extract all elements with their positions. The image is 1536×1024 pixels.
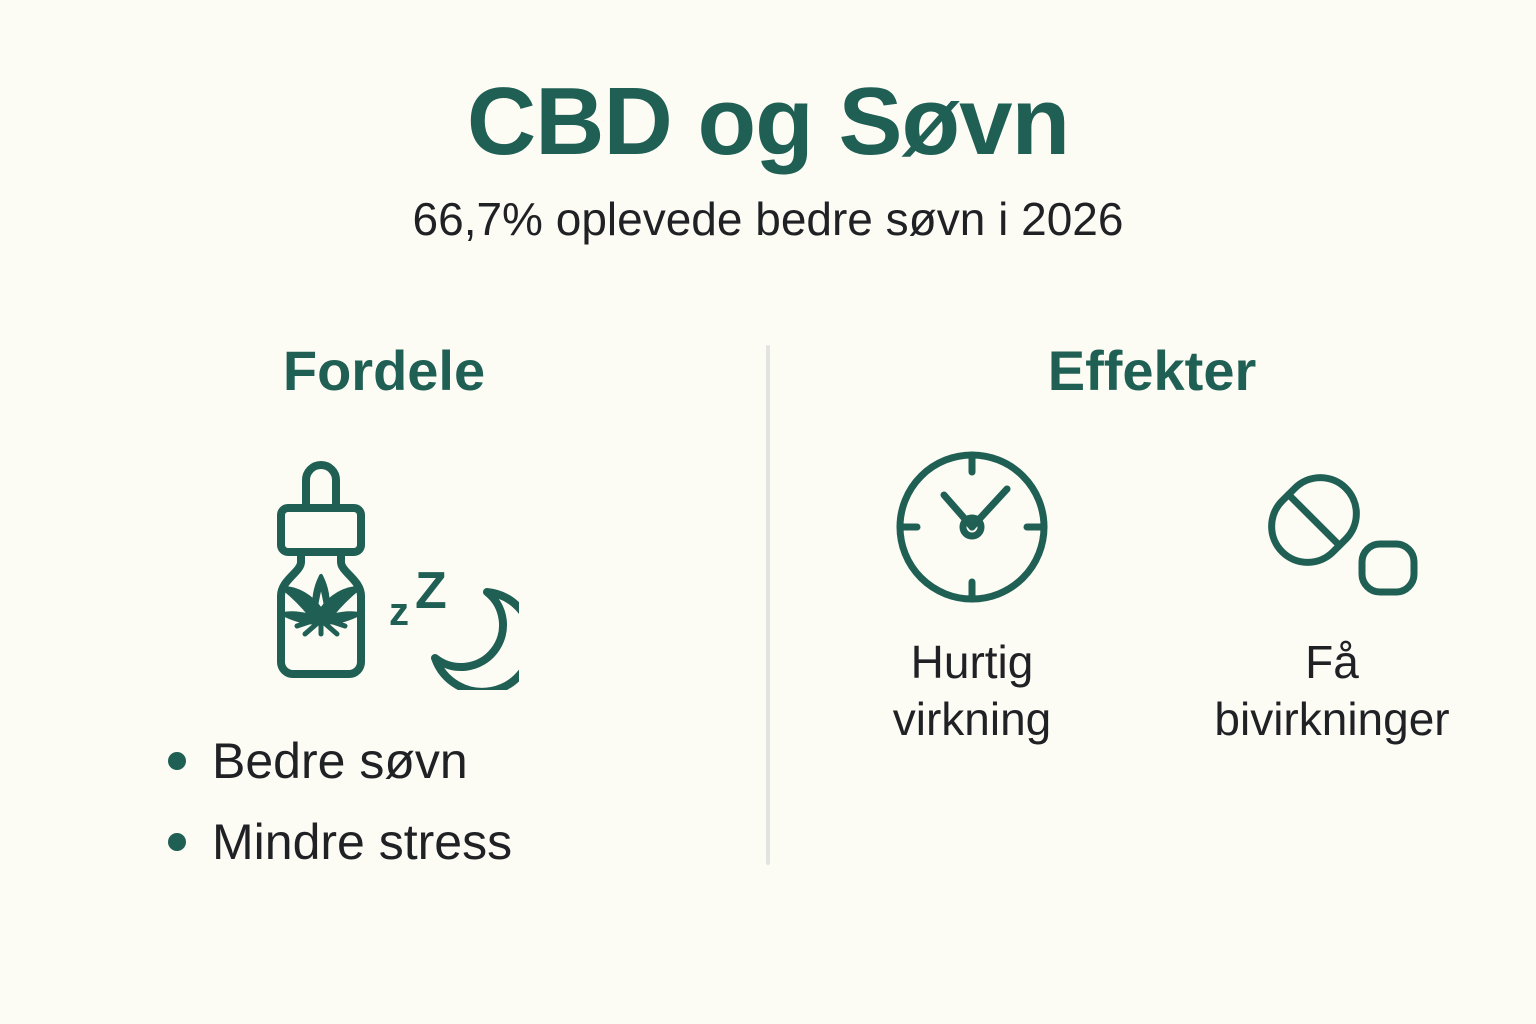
- clock-icon-wrap: [832, 442, 1112, 612]
- cbd-bottle-sleep-icon: z Z: [249, 440, 519, 690]
- large-z-glyph: Z: [415, 562, 447, 620]
- bullet-dot-icon: [168, 752, 186, 770]
- column-effekter: Effekter: [768, 330, 1536, 890]
- column-heading-effekter: Effekter: [768, 330, 1536, 402]
- effects-grid: Hurtig virkning: [768, 442, 1536, 749]
- effect-label: Hurtig virkning: [832, 634, 1112, 749]
- bullet-dot-icon: [168, 833, 186, 851]
- benefit-label: Mindre stress: [212, 815, 512, 870]
- cbd-bottle-sleep-icon-wrap: z Z: [0, 440, 768, 690]
- small-z-glyph: z: [389, 590, 409, 634]
- column-fordele: Fordele: [0, 330, 768, 890]
- list-item: Mindre stress: [168, 815, 768, 870]
- pill-capsule-icon-wrap: [1192, 442, 1472, 612]
- clock-icon: [887, 442, 1057, 612]
- benefit-label: Bedre søvn: [212, 734, 468, 789]
- page-subtitle: 66,7% oplevede bedre søvn i 2026: [0, 193, 1536, 246]
- effect-label: Få bivirkninger: [1192, 634, 1472, 749]
- list-item: Bedre søvn: [168, 734, 768, 789]
- page-title: CBD og Søvn: [0, 72, 1536, 173]
- effect-item-faa-bivirkninger: Få bivirkninger: [1192, 442, 1472, 749]
- effect-item-hurtig-virkning: Hurtig virkning: [832, 442, 1112, 749]
- crescent-moon-icon: [435, 592, 519, 690]
- cannabis-leaf-icon: [283, 576, 359, 634]
- content-columns: Fordele: [0, 330, 1536, 890]
- infographic-poster: CBD og Søvn 66,7% oplevede bedre søvn i …: [0, 0, 1536, 1024]
- benefits-list: Bedre søvn Mindre stress: [0, 734, 768, 870]
- pill-capsule-icon: [1242, 442, 1422, 612]
- column-heading-fordele: Fordele: [0, 330, 768, 402]
- header: CBD og Søvn 66,7% oplevede bedre søvn i …: [0, 72, 1536, 246]
